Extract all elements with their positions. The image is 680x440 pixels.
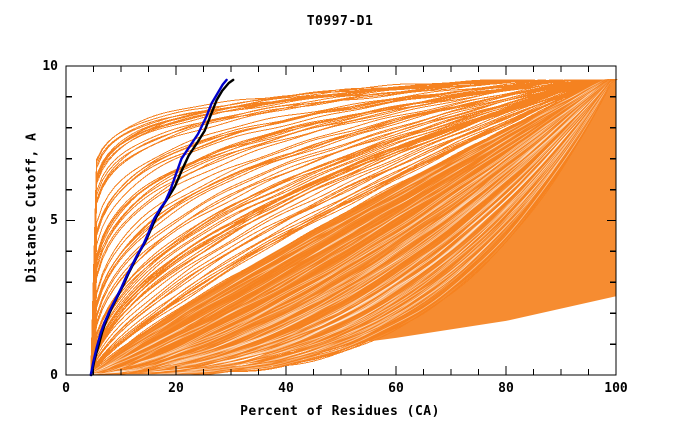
figure-root: T0997-D1 Distance Cutoff, A Percent of R… <box>0 0 680 440</box>
plot-canvas <box>0 0 680 440</box>
orange-prediction-curves <box>91 80 616 375</box>
